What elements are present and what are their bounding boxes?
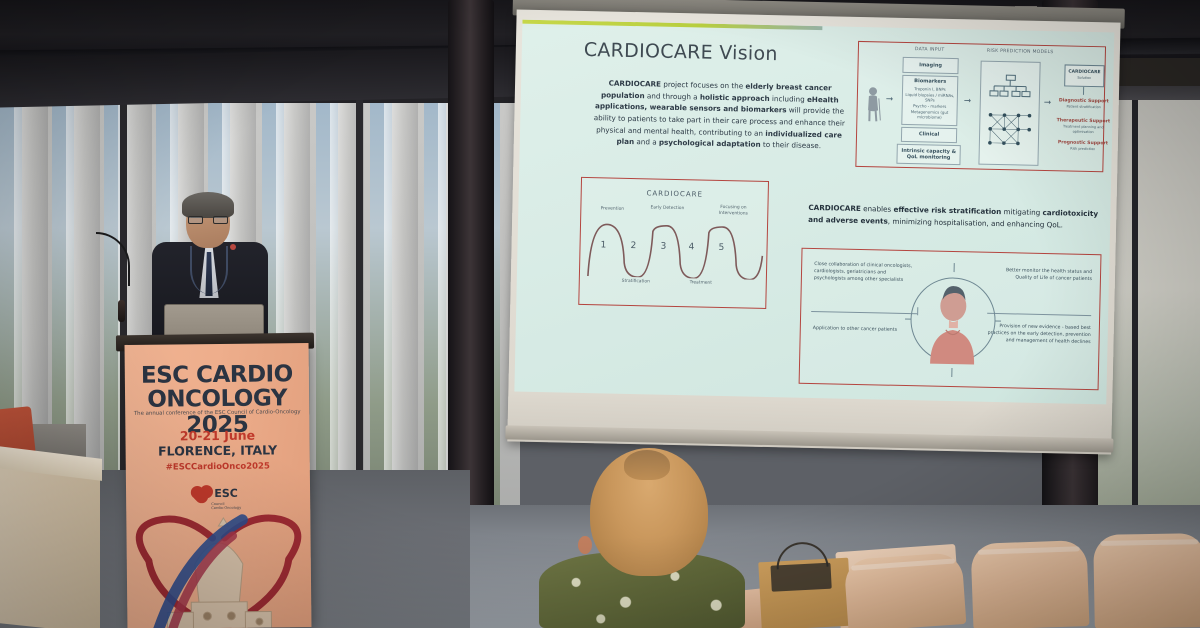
wave-panel: CARDIOCARE Prevention Early Detection Fo… xyxy=(578,177,769,309)
chair-3 xyxy=(1093,533,1200,628)
quadrant-text-2: Better monitor the health status and Qua… xyxy=(994,267,1092,283)
banner-location: FLORENCE, ITALY xyxy=(126,442,310,459)
wave-number-5: 5 xyxy=(718,243,724,253)
arrow-icon-2: ➞ xyxy=(964,96,972,106)
wave-label-interventions: Focusing on Interventions xyxy=(705,205,761,218)
speaker-hair xyxy=(182,192,234,218)
pipeline-label-data-input: DATA INPUT xyxy=(915,47,945,53)
box-biomarkers-items: Troponin I, BNPsLiquid biopsies / miRNAs… xyxy=(901,86,958,121)
wave-number-3: 3 xyxy=(660,242,666,252)
esc-logo-text: ESC xyxy=(214,487,238,500)
support-2-sub: Treatment planning and optimisation xyxy=(1053,124,1113,135)
wave-label-stratification: Stratification xyxy=(608,279,664,286)
glasses-icon xyxy=(188,216,228,224)
pipeline-label-risk-models: RISK PREDICTION MODELS xyxy=(987,49,1054,55)
quadrant-text-1: Close collaboration of clinical oncologi… xyxy=(814,261,912,284)
speaker-badge xyxy=(230,244,236,250)
speaker-lanyard xyxy=(190,246,228,294)
tote-contents xyxy=(770,563,831,592)
chair-2 xyxy=(971,540,1090,628)
arrow-icon-1: ➞ xyxy=(886,95,894,105)
wave-number-1: 1 xyxy=(600,240,606,250)
patient-circle-diagram xyxy=(904,259,1003,381)
wave-label-early-detection: Early Detection xyxy=(645,205,689,212)
tote-bag xyxy=(758,558,851,628)
monitor-sublabel: Solution xyxy=(1064,75,1104,81)
wave-label-prevention: Prevention xyxy=(589,206,635,213)
box-imaging-label: Imaging xyxy=(903,62,959,69)
banner-hashtag: #ESCCardioOnco2025 xyxy=(126,461,310,473)
patient-figure-icon xyxy=(930,286,976,365)
quadrant-text-4: Provision of new evidence - based best p… xyxy=(987,323,1091,346)
box-biomarkers-label: Biomarkers xyxy=(902,78,958,85)
slide-statement: CARDIOCARE enables effective risk strati… xyxy=(808,202,1100,231)
elderly-patient-icon xyxy=(865,86,883,122)
box-clinical-label: Clinical xyxy=(901,131,957,138)
microphone-head xyxy=(118,300,125,322)
wave-title: CARDIOCARE xyxy=(582,188,768,200)
lectern-banner: ESC CARDIO ONCOLOGY 2025 The annual conf… xyxy=(125,343,312,628)
audience-member xyxy=(535,448,745,628)
slide-paragraph: CARDIOCARE project focuses on the elderl… xyxy=(588,77,851,153)
chair-1 xyxy=(844,552,967,628)
audience-hair xyxy=(590,448,708,576)
decision-tree-icon xyxy=(988,73,1033,104)
slide-surface: CARDIOCARE Vision CARDIOCARE project foc… xyxy=(514,20,1114,405)
circle-panel: Close collaboration of clinical oncologi… xyxy=(799,248,1102,391)
wave-number-2: 2 xyxy=(630,241,636,251)
audience-ear xyxy=(578,536,592,554)
slide-title: CARDIOCARE Vision xyxy=(584,39,778,65)
speaker xyxy=(150,196,270,348)
quadrant-text-3: Application to other cancer patients xyxy=(813,325,905,334)
support-3-sub: Risk prediction xyxy=(1053,146,1113,152)
arrow-icon-3: ➞ xyxy=(1044,98,1052,108)
wave-label-treatment: Treatment xyxy=(676,280,726,287)
window-mullion-right xyxy=(1132,100,1138,550)
pipeline-panel: DATA INPUT RISK PREDICTION MODELS ➞ Imag… xyxy=(855,41,1106,172)
neural-network-icon xyxy=(985,109,1034,154)
box-intrinsic-capacity-label: Intrinsic capacity & QoL monitoring xyxy=(896,148,960,162)
wave-curve xyxy=(586,222,765,280)
support-1-sub: Patient stratification xyxy=(1054,104,1114,110)
conference-room-photo: CARDIOCARE Vision CARDIOCARE project foc… xyxy=(0,0,1200,628)
wave-number-4: 4 xyxy=(688,242,694,252)
florence-duomo-heart-graphic xyxy=(125,503,312,628)
projection-screen: CARDIOCARE Vision CARDIOCARE project foc… xyxy=(499,0,1129,461)
